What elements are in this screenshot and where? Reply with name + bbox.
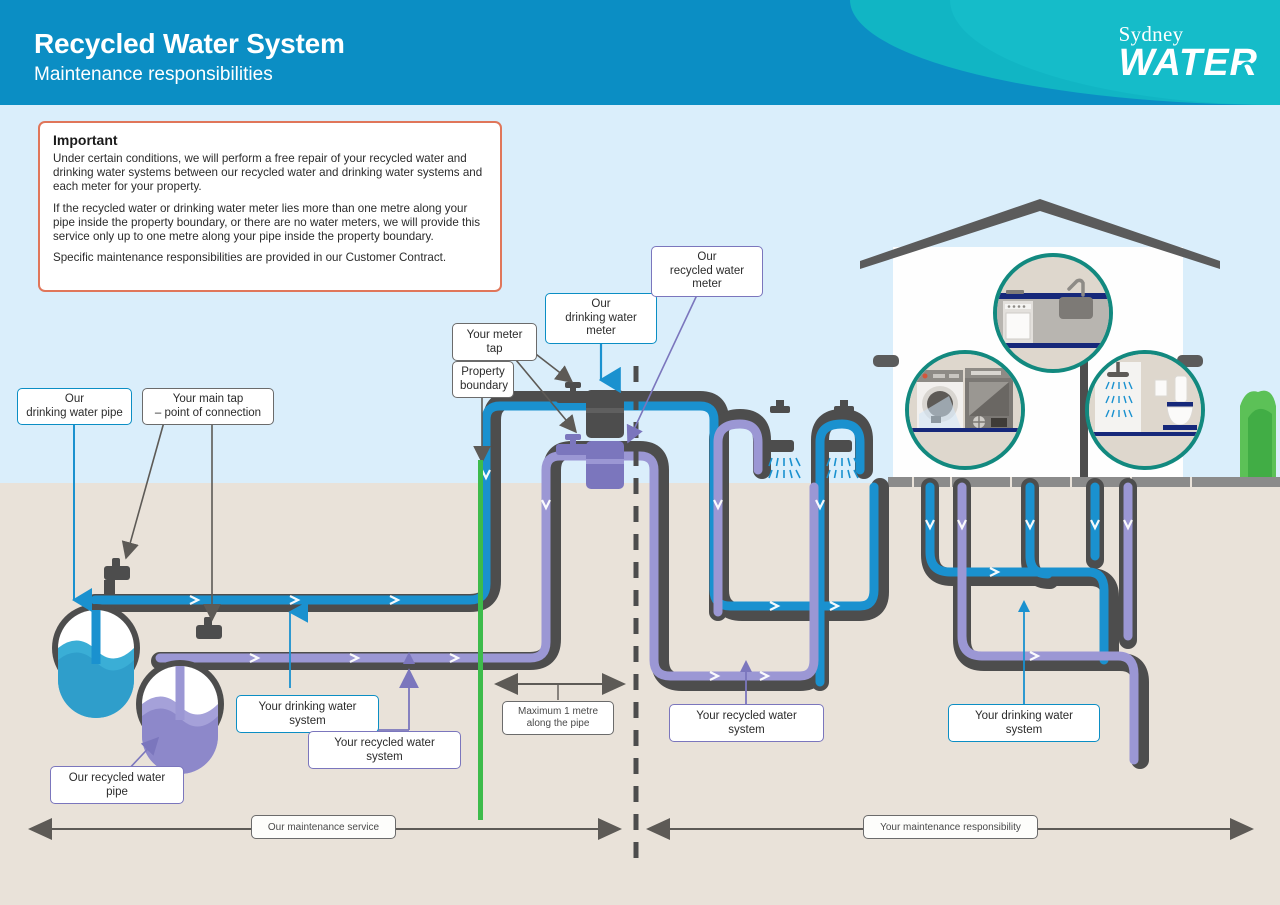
page-title: Recycled Water System bbox=[34, 28, 345, 60]
label-our-drinking-water-meter[interactable]: Our drinking water meter bbox=[545, 293, 657, 344]
laundry-inset-circle bbox=[905, 350, 1025, 470]
floor-seam bbox=[912, 477, 914, 487]
important-paragraph-2: If the recycled water or drinking water … bbox=[53, 202, 487, 245]
important-paragraph-1: Under certain conditions, we will perfor… bbox=[53, 152, 487, 195]
logo-line-sydney: Sydney bbox=[1119, 24, 1258, 44]
important-heading: Important bbox=[53, 132, 487, 148]
floor-seam bbox=[1070, 477, 1072, 487]
ground-background bbox=[0, 483, 1280, 905]
floor-seam bbox=[950, 477, 952, 487]
shower-toilet-icon bbox=[1089, 354, 1201, 466]
label-property-boundary[interactable]: Property boundary bbox=[452, 361, 514, 398]
label-our-drinking-water-pipe[interactable]: Our drinking water pipe bbox=[17, 388, 132, 425]
label-our-maintenance-service[interactable]: Our maintenance service bbox=[251, 815, 396, 839]
page-subtitle: Maintenance responsibilities bbox=[34, 64, 273, 86]
label-your-drinking-water-system-left[interactable]: Your drinking water system bbox=[236, 695, 379, 733]
label-maximum-one-metre[interactable]: Maximum 1 metre along the pipe bbox=[502, 701, 614, 735]
logo-line-water: WATER bbox=[1119, 44, 1258, 82]
page-header: Recycled Water System Maintenance respon… bbox=[0, 0, 1280, 105]
kitchen-sink-icon bbox=[997, 257, 1109, 369]
label-your-recycled-water-system-left[interactable]: Your recycled water system bbox=[308, 731, 461, 769]
gutter-left-icon bbox=[873, 355, 899, 367]
logo-wave-icon bbox=[1241, 57, 1263, 70]
label-our-recycled-water-pipe[interactable]: Our recycled water pipe bbox=[50, 766, 184, 804]
house-floor bbox=[888, 477, 1280, 487]
shrub-icon bbox=[1232, 366, 1280, 483]
label-our-recycled-water-meter[interactable]: Our recycled water meter bbox=[651, 246, 763, 297]
label-your-drinking-water-system-right[interactable]: Your drinking water system bbox=[948, 704, 1100, 742]
label-your-main-tap[interactable]: Your main tap – point of connection bbox=[142, 388, 274, 425]
important-callout-box: Important Under certain conditions, we w… bbox=[38, 121, 502, 292]
floor-seam bbox=[1190, 477, 1192, 487]
diagram-canvas: Recycled Water System Maintenance respon… bbox=[0, 0, 1280, 905]
bathroom-inset-circle bbox=[1085, 350, 1205, 470]
property-boundary-green-line bbox=[478, 460, 483, 820]
sydney-water-logo: Sydney WATER bbox=[1119, 24, 1258, 82]
kitchen-inset-circle bbox=[993, 253, 1113, 373]
washing-machine-icon bbox=[909, 354, 1021, 466]
logo-word: WATER bbox=[1119, 42, 1258, 84]
important-paragraph-3: Specific maintenance responsibilities ar… bbox=[53, 251, 487, 265]
floor-seam bbox=[1130, 477, 1132, 487]
floor-seam bbox=[1010, 477, 1012, 487]
label-your-recycled-water-system-right[interactable]: Your recycled water system bbox=[669, 704, 824, 742]
label-your-maintenance-responsibility[interactable]: Your maintenance responsibility bbox=[863, 815, 1038, 839]
label-your-meter-tap[interactable]: Your meter tap bbox=[452, 323, 537, 361]
